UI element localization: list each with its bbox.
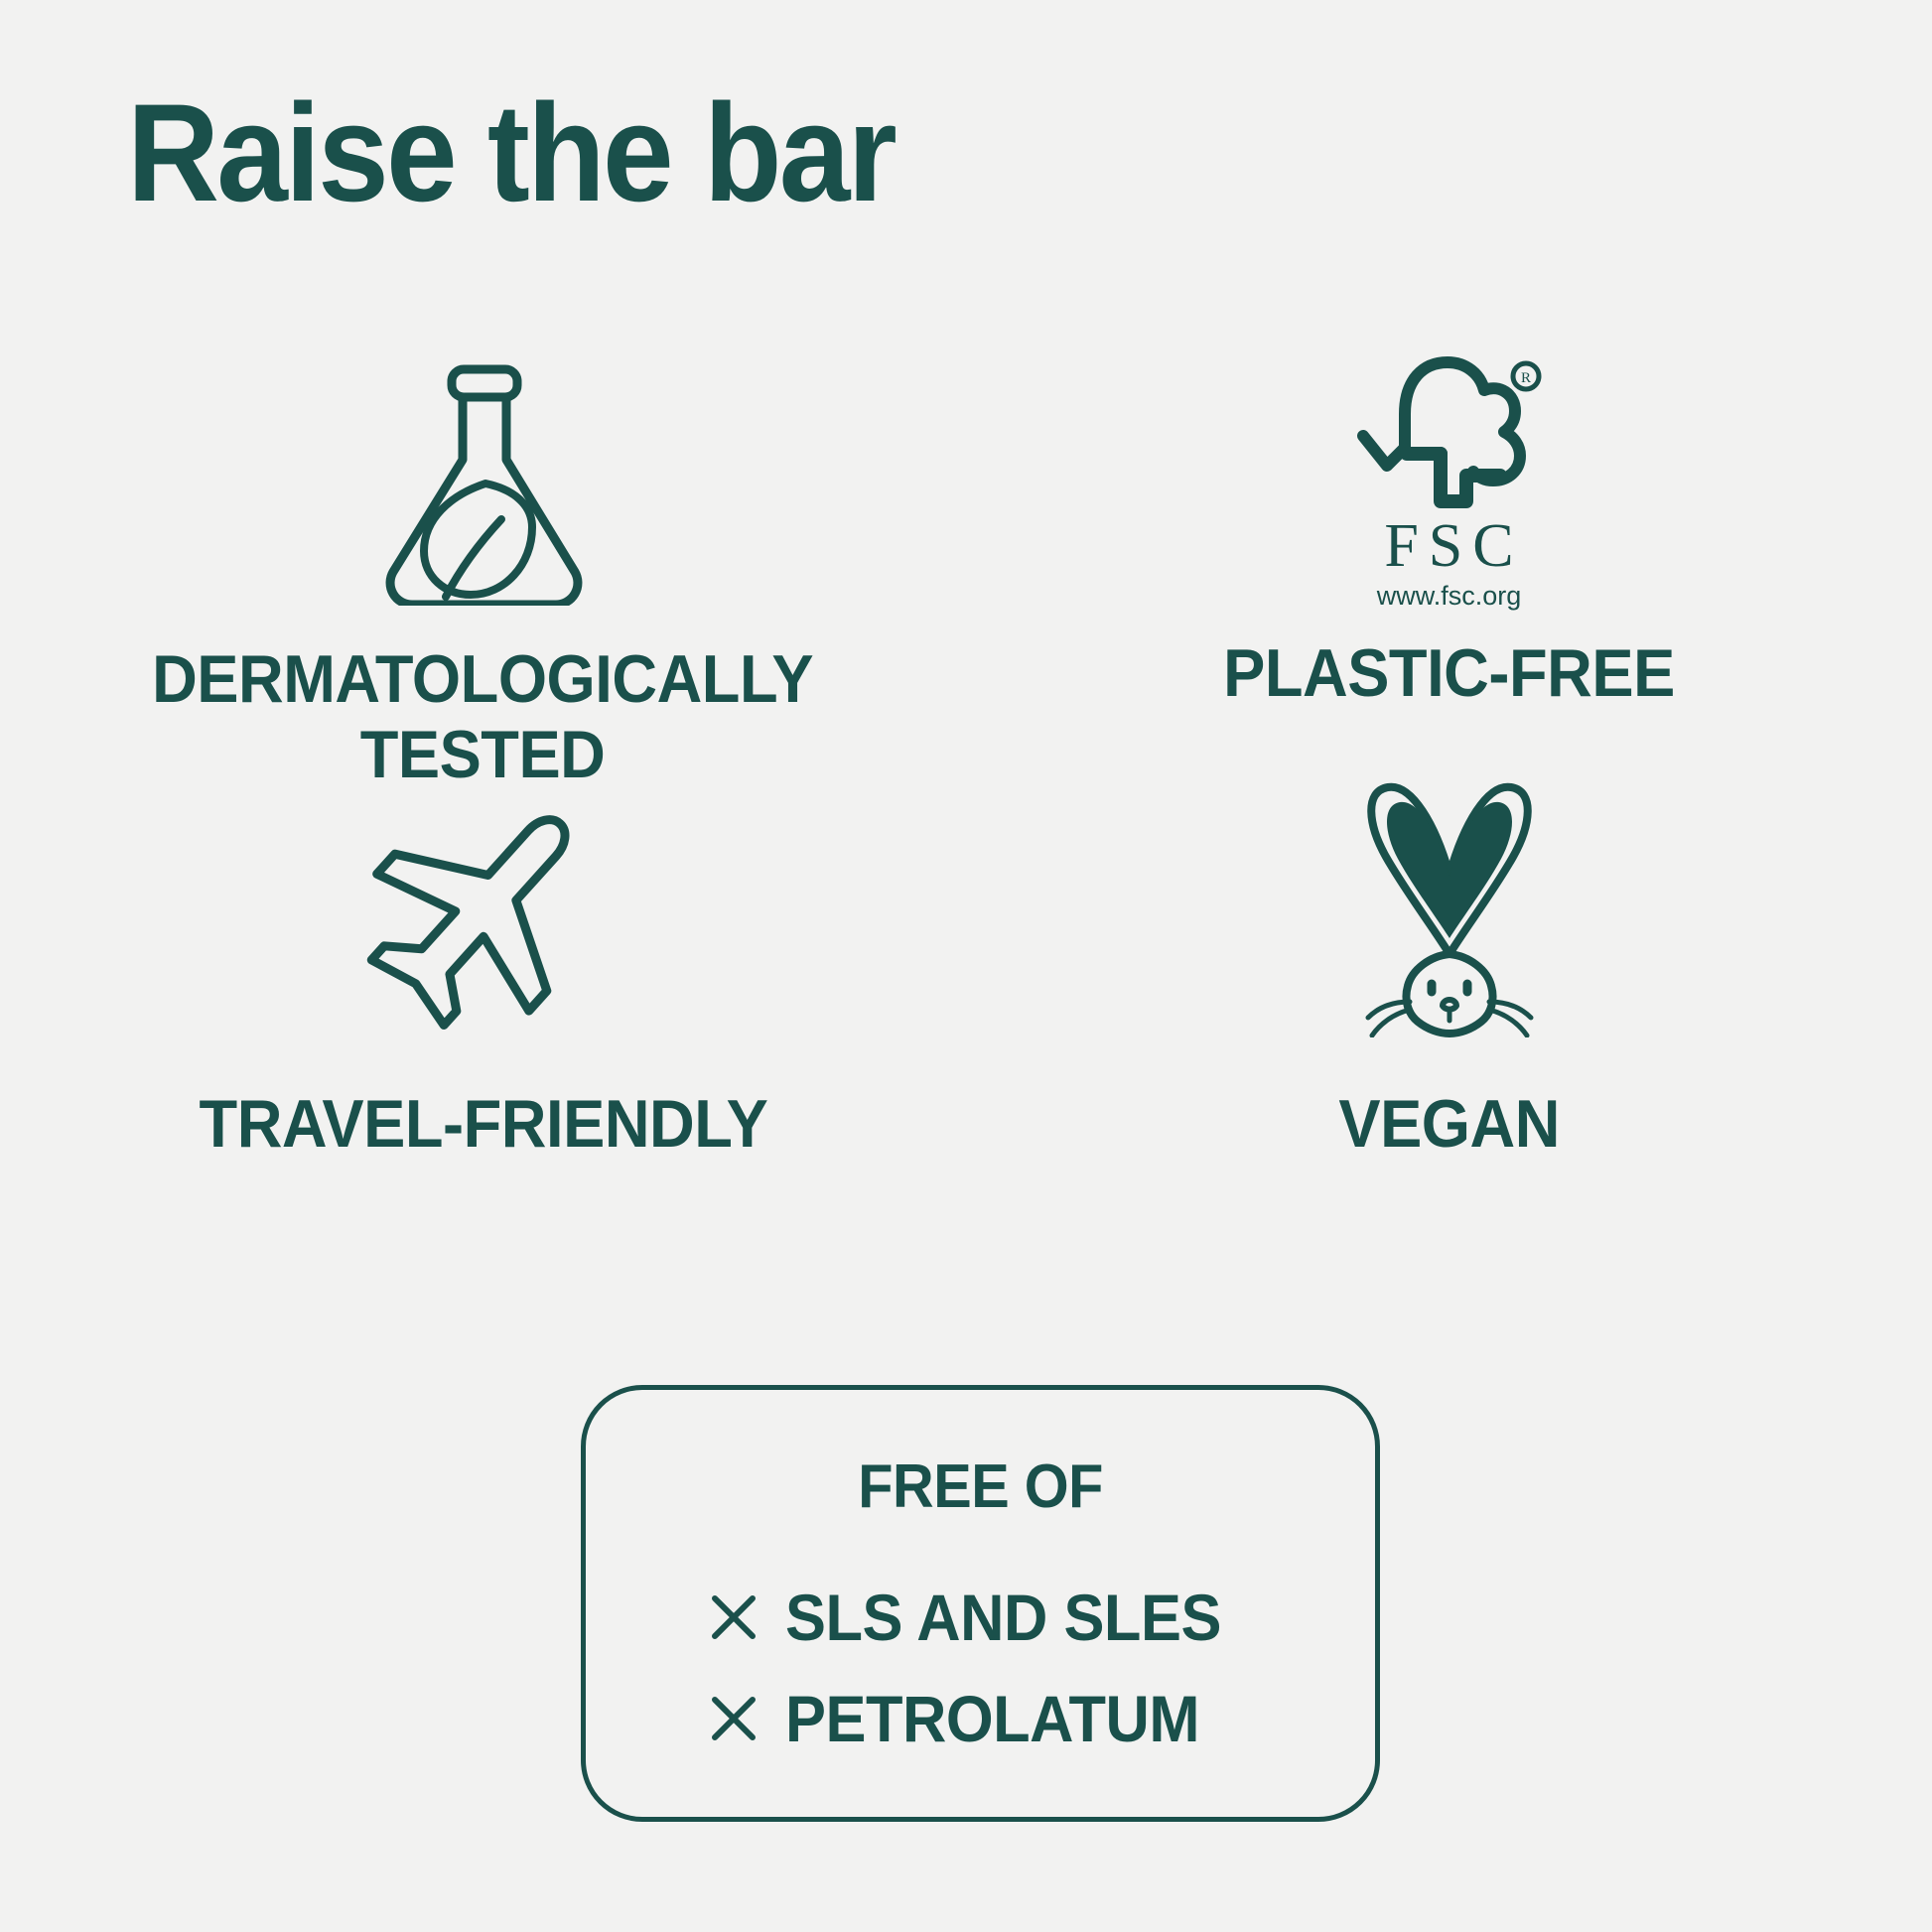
free-of-item: SLS AND SLES <box>708 1580 1254 1655</box>
svg-text:R: R <box>1520 370 1530 386</box>
feature-label: PLASTIC-FREE <box>1223 635 1675 711</box>
bunny-heart-ears-icon <box>1330 774 1569 1042</box>
free-of-panel: FREE OF SLS AND SLES PETROLATUM <box>581 1385 1380 1822</box>
feature-vegan: VEGAN <box>966 774 1932 1211</box>
feature-label: DERMATOLOGICALLY TESTED <box>153 641 814 792</box>
free-of-title: FREE OF <box>858 1451 1103 1522</box>
free-of-item-label: SLS AND SLES <box>785 1580 1221 1655</box>
feature-plastic-free: R FSC www.fsc.org PLASTIC-FREE <box>966 357 1932 774</box>
x-mark-icon <box>708 1693 759 1744</box>
feature-dermatologically-tested: DERMATOLOGICALLY TESTED <box>0 357 966 774</box>
free-of-item: PETROLATUM <box>708 1681 1230 1756</box>
fsc-url: www.fsc.org <box>1377 583 1522 610</box>
feature-travel-friendly: TRAVEL-FRIENDLY <box>0 774 966 1211</box>
fsc-wordmark: FSC <box>1374 515 1523 577</box>
airplane-icon <box>359 774 608 1042</box>
feature-label: TRAVEL-FRIENDLY <box>199 1086 767 1162</box>
flask-with-leaf-icon <box>369 357 598 606</box>
x-mark-icon <box>708 1591 759 1643</box>
feature-grid: DERMATOLOGICALLY TESTED R <box>0 357 1932 1211</box>
page-title: Raise the bar <box>127 83 895 222</box>
feature-label: VEGAN <box>1338 1086 1560 1162</box>
free-of-item-label: PETROLATUM <box>785 1681 1199 1756</box>
free-of-list: SLS AND SLES PETROLATUM <box>708 1580 1254 1756</box>
fsc-tree-checkmark-icon: R <box>1355 354 1544 513</box>
fsc-certified-logo: R FSC www.fsc.org <box>1355 357 1544 606</box>
marketing-infographic: Raise the bar DERMATOLOGICALLY TESTED <box>0 0 1932 1932</box>
